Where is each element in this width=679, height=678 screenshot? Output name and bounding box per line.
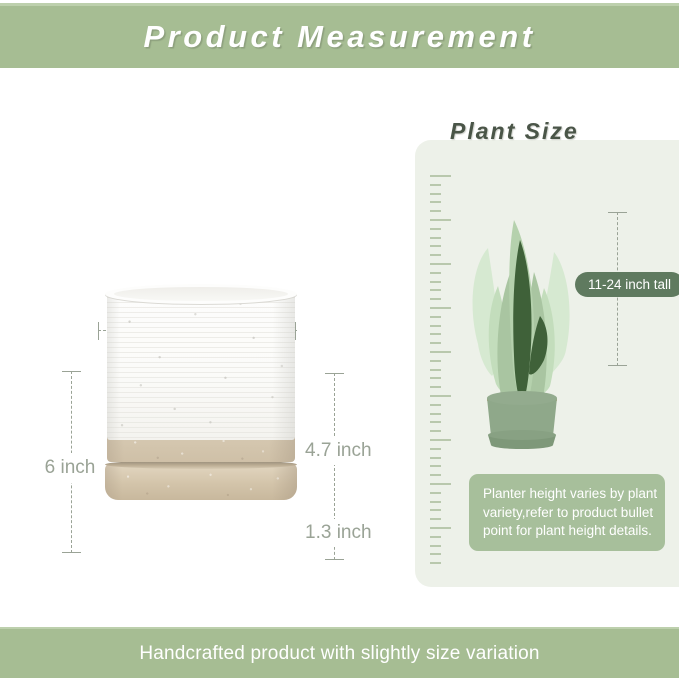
plant-height-badge: 11-24 inch tall [575,272,679,297]
ruler-tick [430,245,441,247]
dimension-cap-left [98,322,99,340]
ruler-tick [430,395,451,397]
saucer-texture [105,464,297,500]
ruler-tick [430,289,441,291]
ruler-tick [430,351,451,353]
ruler-tick [430,413,441,415]
ruler-tick [430,298,441,300]
ruler-tick [430,430,441,432]
dimension-cap-top [325,373,344,374]
ruler-tick [430,228,441,230]
note-line: Planter height varies by plant [483,485,651,504]
pot-height-dimension-label: 4.7 inch [301,437,376,465]
ruler-tick [430,219,451,221]
ruler-tick [430,536,441,538]
plant-height-note-box: Planter height varies by plant variety,r… [469,474,665,551]
ruler-tick [430,316,441,318]
ruler-tick [430,562,441,564]
note-line: point for plant height details. [483,522,651,541]
product-photo-panel: 6 inch 6 inch 4.7 inch 1.3 inch [0,68,410,627]
ruler-icon [430,175,454,573]
ruler-tick [430,369,441,371]
dimension-cap-bottom [62,552,81,553]
ruler-tick [430,272,441,274]
ruler-tick [430,439,451,441]
ruler-tick [430,201,441,203]
ruler-tick [430,193,441,195]
ruler-tick [430,509,441,511]
dimension-cap-bottom [608,365,627,366]
ruler-tick [430,325,441,327]
ruler-tick [430,342,441,344]
ruler-tick [430,333,441,335]
pot-opening [114,287,288,301]
ruler-tick [430,483,451,485]
dimension-cap-bottom [325,559,344,560]
page-title: Product Measurement [143,19,535,55]
ruler-tick [430,307,451,309]
ruler-tick [430,492,441,494]
ruler-tick [430,545,441,547]
dimension-cap-top [62,371,81,372]
ruler-tick [430,360,441,362]
total-height-dimension-label: 6 inch [41,453,100,483]
header-band: Product Measurement [0,3,679,68]
ruler-tick [430,254,441,256]
ruler-tick [430,237,441,239]
ruler-tick [430,501,441,503]
ruler-tick [430,518,441,520]
footer-band: Handcrafted product with slightly size v… [0,627,679,678]
ruler-tick [430,263,451,265]
note-line: variety,refer to product bullet [483,504,651,523]
plant-size-title: Plant Size [450,118,579,145]
planter-pot-image [105,284,297,490]
dimension-cap-top [608,212,627,213]
pot-speckle-texture [107,292,295,440]
ruler-tick [430,175,451,177]
ruler-tick [430,457,441,459]
ruler-tick [430,377,441,379]
ruler-tick [430,474,441,476]
ruler-tick [430,465,441,467]
infographic-canvas: Product Measurement 6 inch 6 inch 4.7 in… [0,0,679,678]
ruler-tick [430,553,441,555]
ruler-tick [430,210,441,212]
ruler-tick [430,448,441,450]
ruler-tick [430,421,441,423]
snake-plant-icon [462,204,582,449]
ruler-tick [430,386,441,388]
ruler-tick [430,404,441,406]
ruler-tick [430,527,451,529]
footer-note: Handcrafted product with slightly size v… [139,643,539,665]
saucer-height-dimension-label: 1.3 inch [301,519,376,547]
ruler-tick [430,184,441,186]
ruler-tick [430,281,441,283]
